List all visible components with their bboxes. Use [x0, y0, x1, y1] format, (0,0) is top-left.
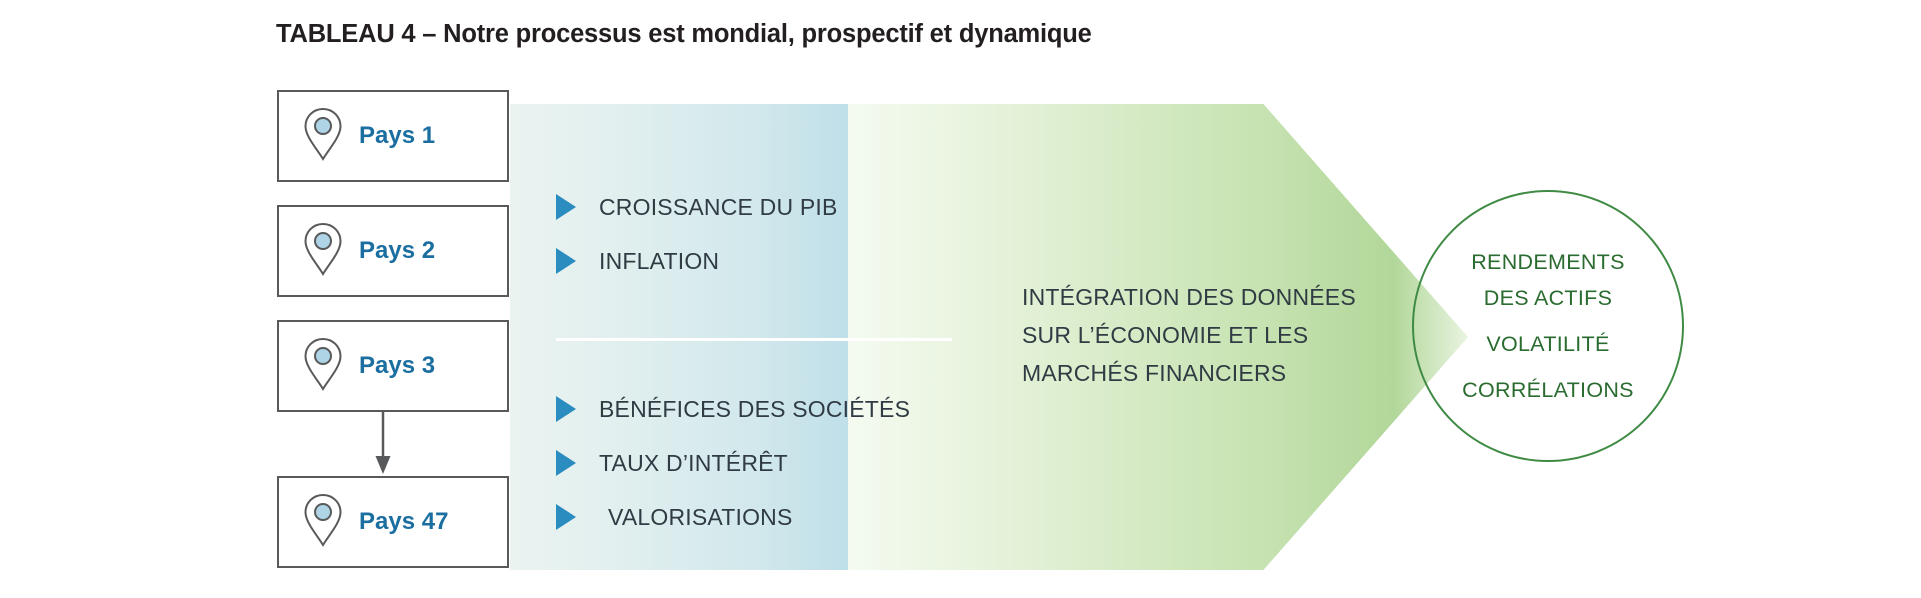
outcome-line: DES ACTIFS	[1484, 280, 1612, 316]
list-item: TAUX D’INTÉRÊT	[556, 436, 910, 490]
factor-label: CROISSANCE DU PIB	[599, 194, 838, 221]
triangle-right-icon	[556, 504, 576, 530]
map-pin-icon	[303, 107, 343, 166]
divider	[556, 338, 952, 341]
factor-list-bottom: BÉNÉFICES DES SOCIÉTÉS TAUX D’INTÉRÊT VA…	[556, 382, 910, 544]
integration-text-block: INTÉGRATION DES DONNÉES SUR L’ÉCONOMIE E…	[1022, 278, 1392, 392]
map-pin-icon	[303, 493, 343, 552]
factor-label: INFLATION	[599, 248, 719, 275]
integration-line: INTÉGRATION DES DONNÉES	[1022, 278, 1392, 316]
list-item: INFLATION	[556, 234, 838, 288]
integration-line: MARCHÉS FINANCIERS	[1022, 354, 1392, 392]
country-box-pays-47[interactable]: Pays 47	[277, 476, 509, 568]
outcome-circle: RENDEMENTS DES ACTIFS VOLATILITÉ CORRÉLA…	[1412, 190, 1684, 462]
country-box-pays-2[interactable]: Pays 2	[277, 205, 509, 297]
outcome-line: CORRÉLATIONS	[1462, 372, 1634, 408]
country-label: Pays 3	[359, 352, 435, 380]
triangle-right-icon	[556, 396, 576, 422]
country-label: Pays 1	[359, 122, 435, 150]
triangle-right-icon	[556, 248, 576, 274]
outcome-line: VOLATILITÉ	[1486, 326, 1609, 362]
integration-line: SUR L’ÉCONOMIE ET LES	[1022, 316, 1392, 354]
diagram-canvas: TABLEAU 4 – Notre processus est mondial,…	[0, 0, 1921, 598]
outcome-line: RENDEMENTS	[1471, 244, 1625, 280]
list-item: BÉNÉFICES DES SOCIÉTÉS	[556, 382, 910, 436]
factor-list-top: CROISSANCE DU PIB INFLATION	[556, 180, 838, 288]
factor-label: VALORISATIONS	[608, 504, 793, 531]
map-pin-icon	[303, 222, 343, 281]
triangle-right-icon	[556, 450, 576, 476]
country-box-pays-1[interactable]: Pays 1	[277, 90, 509, 182]
triangle-right-icon	[556, 194, 576, 220]
page-title: TABLEAU 4 – Notre processus est mondial,…	[276, 20, 1092, 49]
list-item: VALORISATIONS	[556, 490, 910, 544]
factor-label: BÉNÉFICES DES SOCIÉTÉS	[599, 396, 910, 423]
country-label: Pays 2	[359, 237, 435, 265]
list-item: CROISSANCE DU PIB	[556, 180, 838, 234]
down-arrow-icon	[370, 412, 396, 476]
map-pin-icon	[303, 337, 343, 396]
country-box-pays-3[interactable]: Pays 3	[277, 320, 509, 412]
country-label: Pays 47	[359, 508, 448, 536]
factor-label: TAUX D’INTÉRÊT	[599, 450, 788, 477]
